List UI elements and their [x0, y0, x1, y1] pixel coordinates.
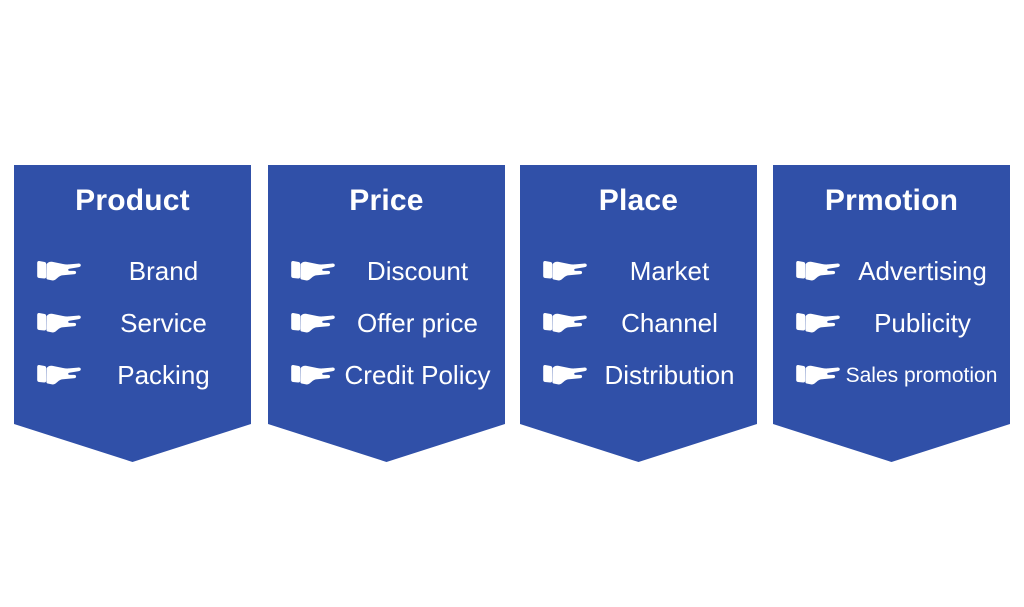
banner-title: Product: [14, 183, 251, 219]
pointing-hand-icon: [542, 258, 588, 284]
pointing-hand-icon: [36, 310, 82, 336]
list-item-label: Channel: [590, 307, 749, 339]
banner-product: Product Brand Service: [14, 165, 251, 462]
list-item: Advertising: [773, 245, 1010, 297]
list-item: Packing: [14, 349, 251, 401]
pointing-hand-icon: [795, 362, 841, 388]
list-item: Sales promotion: [773, 349, 1010, 401]
banner-item-list: Brand Service Packing: [14, 245, 251, 401]
banner-title: Place: [520, 183, 757, 219]
pointing-hand-icon: [290, 258, 336, 284]
list-item-label: Distribution: [590, 359, 749, 391]
list-item-label: Market: [590, 255, 749, 287]
list-item-label: Packing: [84, 359, 243, 391]
list-item: Offer price: [268, 297, 505, 349]
marketing-mix-board: Product Brand Service: [0, 0, 1024, 607]
list-item-label: Advertising: [843, 255, 1002, 287]
pointing-hand-icon: [36, 362, 82, 388]
pointing-hand-icon: [795, 258, 841, 284]
list-item: Market: [520, 245, 757, 297]
pointing-hand-icon: [795, 310, 841, 336]
list-item-label: Discount: [338, 255, 497, 287]
list-item-label: Service: [84, 307, 243, 339]
list-item-label: Offer price: [338, 307, 497, 339]
banner-title: Prmotion: [773, 183, 1010, 219]
banner-item-list: Advertising Publicity Sa: [773, 245, 1010, 401]
banner-title: Price: [268, 183, 505, 219]
banner-item-list: Discount Offer price Cre: [268, 245, 505, 401]
list-item-label: Credit Policy: [338, 359, 497, 391]
pointing-hand-icon: [542, 310, 588, 336]
pointing-hand-icon: [36, 258, 82, 284]
list-item: Credit Policy: [268, 349, 505, 401]
list-item: Publicity: [773, 297, 1010, 349]
banner-item-list: Market Channel Distribut: [520, 245, 757, 401]
pointing-hand-icon: [542, 362, 588, 388]
list-item: Discount: [268, 245, 505, 297]
pointing-hand-icon: [290, 310, 336, 336]
banner-place: Place Market Channel: [520, 165, 757, 462]
list-item-label: Brand: [84, 255, 243, 287]
list-item-label: Sales promotion: [837, 362, 1006, 389]
list-item: Service: [14, 297, 251, 349]
banner-promotion: Prmotion Advertising Publi: [773, 165, 1010, 462]
list-item: Channel: [520, 297, 757, 349]
banner-price: Price Discount Offer price: [268, 165, 505, 462]
pointing-hand-icon: [290, 362, 336, 388]
list-item: Brand: [14, 245, 251, 297]
list-item: Distribution: [520, 349, 757, 401]
list-item-label: Publicity: [843, 307, 1002, 339]
